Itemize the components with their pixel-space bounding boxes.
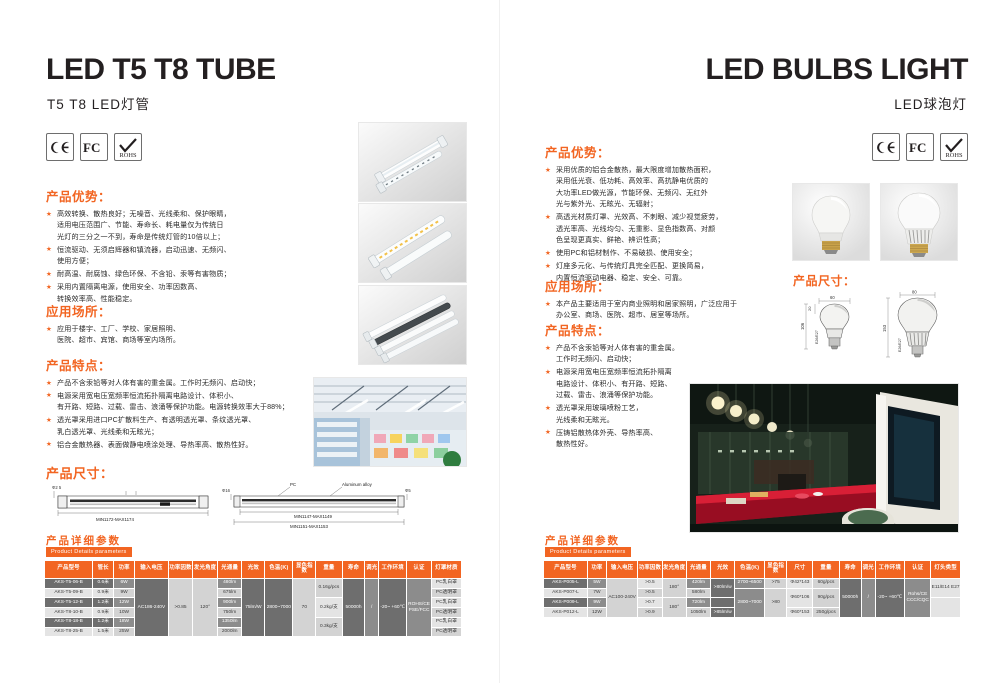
spec-col-header: 灯头类型	[931, 561, 961, 579]
bullet-line: 工作时无频闪、启动快；	[556, 354, 755, 365]
bullet-line: 高透光材质灯罩、光效高、不刺眼、减少视觉疲劳，	[556, 212, 790, 223]
spec-cell: 0.16g/pcs	[316, 578, 342, 598]
bullet-line: 医院、超市、宾馆、商场等室内场所。	[57, 335, 271, 346]
spec-cell: AKS-T5-06-B	[45, 578, 93, 588]
right-application-list: ★本产品主要适用于室内商业照明和居家照明，广泛应用于办公室、商场、医院、超市、居…	[545, 299, 795, 322]
spec-col-header: 产品型号	[45, 561, 93, 579]
ce-mark-icon	[46, 133, 74, 161]
bulb-small-dome: 20	[807, 306, 812, 311]
right-certification-badges: FC ROHS	[872, 133, 968, 161]
spec-cell: 1.2米	[93, 598, 114, 608]
bullet-item: ★产品不含汞铅等对人体有害的重金属。工作时无频闪、启动快；	[46, 378, 308, 389]
spec-cell: 2700~6500	[735, 578, 765, 588]
spec-col-header: 产品型号	[544, 561, 588, 579]
bullet-line: 应用于楼宇、工厂、学校、家居照明、	[57, 324, 271, 335]
spec-col-header: 光效	[711, 561, 735, 579]
bulb-large-diameter: 80	[912, 290, 917, 295]
spec-cell: Φ42*143	[787, 578, 813, 588]
right-advantages-list: ★采用优质的铝合金散热，最大限度增加散热面积，采用低光衰、低功耗、高效率、高抗静…	[545, 165, 790, 284]
spec-cell: >0.85	[168, 578, 193, 637]
spec-cell: 75lm/W	[242, 578, 265, 637]
bulb-dimension-drawings: 60 20 106	[793, 288, 993, 360]
spec-cell: 580lm	[686, 588, 710, 598]
table-row: AKS-P005-L5WAC100-240V>0.5180°420lm>80lm…	[544, 578, 961, 588]
bulb-small-diameter: 60	[830, 295, 835, 300]
spec-cell: 25W	[114, 627, 135, 637]
spec-cell: 0.2kg/支	[316, 598, 342, 618]
star-bullet-icon: ★	[545, 344, 551, 354]
fcc-mark-icon: FC	[906, 133, 934, 161]
bulb-photo-1	[792, 183, 870, 261]
spec-cell: 0.9米	[93, 608, 114, 618]
spec-cell: 0.6米	[93, 578, 114, 588]
spec-cell: 120°	[193, 578, 218, 637]
left-application-list: ★应用于楼宇、工厂、学校、家居照明、医院、超市、宾馆、商场等室内场所。	[46, 324, 271, 347]
left-certification-badges: FC ROHS	[46, 133, 142, 161]
left-features-list: ★产品不含汞铅等对人体有害的重金属。工作时无频闪、启动快；★电源采用宽电压宽频率…	[46, 378, 308, 451]
spec-cell: 50000h	[839, 578, 861, 617]
left-application-heading: 应用场所：	[46, 301, 271, 320]
spec-cell: 250g/pcs	[813, 608, 839, 618]
spec-cell: 10W	[114, 608, 135, 618]
right-page: LED BULBS LIGHT LED球泡灯 FC ROHS	[500, 0, 1000, 683]
right-features-heading: 产品特点：	[545, 320, 755, 339]
bullet-line: 高效转换、散热良好；无噪音、光线柔和、保护眼睛，	[57, 209, 271, 220]
bullet-line: 恒流驱动、无须启辉器和镇流器，启动迅速、无频闪、	[57, 245, 271, 256]
right-page-title-en: LED BULBS LIGHT	[706, 55, 969, 85]
spec-cell: Φ60*106	[787, 588, 813, 608]
svg-text:Φ2 5: Φ2 5	[52, 485, 62, 490]
spec-cell: -20~ +60℃	[875, 578, 905, 617]
bullet-line: 采用低光衰、低功耗、高效率、高抗静电优质的	[556, 176, 790, 187]
left-features-heading: 产品特点：	[46, 355, 308, 374]
spec-cell: 1.5米	[93, 627, 114, 637]
left-advantages-section: 产品优势： ★高效转换、散热良好；无噪音、光线柔和、保护眼睛，适用电压范围广、节…	[46, 186, 271, 315]
spec-cell: AKS-T5-12-B	[45, 598, 93, 608]
bullet-item: ★产品不含汞铅等对人体有害的重金属。工作时无频闪、启动快；	[545, 343, 755, 366]
star-bullet-icon: ★	[46, 210, 52, 220]
spec-col-header: 功率因数	[638, 561, 662, 579]
bullet-line: 电源采用宽电压宽频率恒流拓扑隔离	[556, 367, 755, 378]
spec-cell: AKS-T8-18-B	[45, 617, 93, 627]
bullet-line: 耐高温、耐腐蚀、绿色环保、不含铅、汞等有害物质；	[57, 269, 271, 280]
t8-dimension-drawing: Φ16 PC Aluminum alloy Φ5 MIN1147-MAX1149	[218, 478, 418, 530]
bullet-line: 使用PC和铝材制作、不易破损、使用安全；	[556, 248, 790, 259]
star-bullet-icon: ★	[545, 300, 551, 310]
spec-cell: PC乳白罩	[431, 598, 461, 608]
fcc-mark-icon: FC	[80, 133, 108, 161]
spec-cell: >80	[764, 588, 786, 617]
right-application-heading: 应用场所：	[545, 276, 795, 295]
spec-cell: >80lm/w	[711, 578, 735, 598]
bullet-line: 产品不含汞铅等对人体有害的重金属。	[556, 343, 755, 354]
right-advantages-heading: 产品优势：	[545, 142, 790, 161]
right-spec-table: 产品型号功率输入电压功率因数发光角度光通量光效色温(K)显色指数尺寸重量寿命调光…	[543, 560, 961, 618]
right-dimensions-heading: 产品尺寸：	[793, 272, 856, 289]
spec-cell: >0.5	[638, 578, 662, 588]
bullet-line: 采用内置隔离电源，使用安全、功率因数高、	[57, 282, 271, 293]
star-bullet-icon: ★	[545, 368, 551, 378]
svg-text:ROHS: ROHS	[946, 152, 963, 158]
table-row: AKS-T5-06-B0.6米6WAC186-240V>0.85120°480l…	[45, 578, 462, 588]
spec-cell: 420lm	[686, 578, 710, 588]
spec-col-header: 尺寸	[787, 561, 813, 579]
star-bullet-icon: ★	[545, 213, 551, 223]
spec-cell: 675lm	[217, 588, 242, 598]
spec-col-header: 重量	[813, 561, 839, 579]
right-params-title: 产品详细参数	[545, 533, 620, 548]
star-bullet-icon: ★	[46, 270, 52, 280]
spec-col-header: 工作环境	[379, 561, 407, 579]
t5-length-label: MIN1172-MAX1174	[96, 517, 134, 522]
bulb-large-base: E26/E27	[898, 338, 902, 352]
spec-col-header: 调光	[365, 561, 379, 579]
bullet-line: 电源采用宽电压宽频率恒流拓扑隔离电路设计、体积小、	[57, 391, 308, 402]
spec-cell: AKS-T5-09-B	[45, 588, 93, 598]
tube-photo-2	[358, 203, 467, 283]
spec-cell: 2800~7000	[265, 578, 293, 637]
spec-cell: Rohs/CE CCC/CQC	[905, 578, 931, 617]
spec-cell: AKS-T8-25-B	[45, 627, 93, 637]
tube-photo-3	[358, 285, 467, 365]
spec-col-header: 寿命	[342, 561, 365, 579]
spec-cell: 180°	[662, 598, 686, 618]
spec-cell: -20~ +60℃	[379, 578, 407, 637]
spec-col-header: 灯罩材质	[431, 561, 461, 579]
spec-cell: /	[862, 578, 876, 617]
svg-text:Φ16: Φ16	[222, 488, 231, 493]
spec-col-header: 输入电压	[606, 561, 637, 579]
spec-cell: 7W	[587, 588, 606, 598]
bullet-item: ★高效转换、散热良好；无噪音、光线柔和、保护眼睛，适用电压范围广、节能、寿命长、…	[46, 209, 271, 243]
bullet-item: ★高透光材质灯罩、光效高、不刺眼、减少视觉疲劳，透光率高、光线均匀、无重影、显色…	[545, 212, 790, 246]
bullet-item: ★恒流驱动、无须启辉器和镇流器，启动迅速、无频闪、使用方便；	[46, 245, 271, 268]
star-bullet-icon: ★	[545, 249, 551, 259]
bullet-line: 适用电压范围广、节能、寿命长、耗电量仅为传统日	[57, 220, 271, 231]
spec-col-header: 光效	[242, 561, 265, 579]
spec-cell: 6W	[114, 578, 135, 588]
star-bullet-icon: ★	[46, 245, 52, 255]
star-bullet-icon: ★	[46, 379, 52, 389]
spec-cell: AKS-P009-L	[544, 598, 588, 608]
star-bullet-icon: ★	[545, 262, 551, 272]
spec-cell: 70	[293, 578, 316, 637]
spec-cell: 2800~7000	[735, 588, 765, 617]
bullet-item: ★本产品主要适用于室内商业照明和居家照明，广泛应用于办公室、商场、医院、超市、居…	[545, 299, 795, 322]
star-bullet-icon: ★	[545, 428, 551, 438]
right-advantages-section: 产品优势： ★采用优质的铝合金散热，最大限度增加散热面积，采用低光衰、低功耗、高…	[545, 142, 790, 294]
spec-cell: 1350lm	[217, 617, 242, 627]
left-params-title: 产品详细参数	[46, 533, 121, 548]
right-spec-header-row: 产品型号功率输入电压功率因数发光角度光通量光效色温(K)显色指数尺寸重量寿命调光…	[544, 561, 961, 579]
star-bullet-icon: ★	[46, 325, 52, 335]
spec-col-header: 光通量	[686, 561, 710, 579]
spec-cell: PC透明罩	[431, 588, 461, 598]
restaurant-scene-photo	[689, 383, 959, 533]
spec-col-header: 发光角度	[662, 561, 686, 579]
left-page: LED T5 T8 TUBE T5 T8 LED灯管 FC ROHS	[0, 0, 500, 683]
spec-col-header: 色温(K)	[265, 561, 293, 579]
spec-cell: PC透明罩	[431, 627, 461, 637]
spec-col-header: 色温(K)	[735, 561, 765, 579]
star-bullet-icon: ★	[46, 391, 52, 401]
left-params-subtitle: Product Details parameters	[46, 547, 132, 557]
spec-col-header: 调光	[862, 561, 876, 579]
bullet-item: ★采用优质的铝合金散热，最大限度增加散热面积，采用低光衰、低功耗、高效率、高抗静…	[545, 165, 790, 211]
spec-cell: 2000lm	[217, 627, 242, 637]
spec-cell: 180°	[662, 578, 686, 598]
spec-col-header: 工作环境	[875, 561, 905, 579]
tube-photo-1	[358, 122, 467, 202]
spec-col-header: 功率	[114, 561, 135, 579]
spec-col-header: 认证	[905, 561, 931, 579]
star-bullet-icon: ★	[46, 440, 52, 450]
spec-cell: 0.9米	[93, 588, 114, 598]
spec-col-header: 输入电压	[135, 561, 169, 579]
spec-cell: E11/E14 E27	[931, 578, 961, 598]
bulb-small-height: 106	[800, 322, 805, 330]
star-bullet-icon: ★	[46, 283, 52, 293]
spec-cell: AC100-240V	[606, 578, 637, 617]
spec-cell: AKS-P012-L	[544, 608, 588, 618]
t8-end-label: Φ5	[405, 488, 411, 493]
spec-col-header: 光通量	[217, 561, 242, 579]
t8-outer-length-label: MIN1151-MAX1153	[290, 524, 328, 529]
left-application-section: 应用场所： ★应用于楼宇、工厂、学校、家居照明、医院、超市、宾馆、商场等室内场所…	[46, 301, 271, 357]
bullet-item: ★耐高温、耐腐蚀、绿色环保、不含铅、汞等有害物质；	[46, 269, 271, 280]
spec-cell: >75	[764, 578, 786, 588]
spec-col-header: 显色指数	[764, 561, 786, 579]
spec-col-header: 寿命	[839, 561, 861, 579]
left-advantages-heading: 产品优势：	[46, 186, 271, 205]
star-bullet-icon: ★	[545, 404, 551, 414]
spec-cell: 12W	[114, 598, 135, 608]
svg-text:FC: FC	[909, 141, 926, 154]
spec-cell: 90g/pcs	[813, 588, 839, 608]
spec-cell: 1.2米	[93, 617, 114, 627]
spec-cell: 5W	[587, 578, 606, 588]
left-advantages-list: ★高效转换、散热良好；无噪音、光线柔和、保护眼睛，适用电压范围广、节能、寿命长、…	[46, 209, 271, 305]
bullet-line: 色呈现更真实、鲜艳、辨识性高；	[556, 235, 790, 246]
supermarket-scene-photo	[313, 377, 467, 467]
spec-cell: AC186-240V	[135, 578, 169, 637]
spec-col-header: 功率	[587, 561, 606, 579]
bullet-line: 灯座多元化、与传统灯具完全匹配、更换简易，	[556, 261, 790, 272]
bullet-line: 使用方便；	[57, 256, 271, 267]
spec-cell: 900lm	[217, 598, 242, 608]
spec-cell: 480lm	[217, 578, 242, 588]
bulb-small-base: E26/E27	[815, 330, 819, 344]
bullet-item: ★应用于楼宇、工厂、学校、家居照明、医院、超市、宾馆、商场等室内场所。	[46, 324, 271, 347]
spec-col-header: 显色指数	[293, 561, 316, 579]
spec-cell: 0.3kg/支	[316, 617, 342, 637]
spec-col-header: 发光角度	[193, 561, 218, 579]
spec-col-header: 管长	[93, 561, 114, 579]
bullet-item: ★电源采用宽电压宽频率恒流拓扑隔离电路设计、体积小、有开路、短路、过载、雷击、浪…	[46, 391, 308, 414]
t8-pc-label: PC	[290, 482, 296, 487]
bullet-line: 光与紫外光、无眩光、无辐射；	[556, 199, 790, 210]
spec-cell: 750lm	[217, 608, 242, 618]
bullet-line: 光灯的三分之一不到，寿命是传统灯管的10倍以上；	[57, 232, 271, 243]
left-spec-header-row: 产品型号管长功率输入电压功率因数发光角度光通量光效色温(K)显色指数重量寿命调光…	[45, 561, 462, 579]
right-page-title-cn: LED球泡灯	[894, 93, 967, 113]
bullet-line: 乳白透光罩、光线柔和无眩光；	[57, 427, 308, 438]
spec-col-header: 功率因数	[168, 561, 193, 579]
spec-cell: 1050lm	[686, 608, 710, 618]
left-page-title-cn: T5 T8 LED灯管	[47, 93, 150, 113]
spec-cell: >0.7	[638, 598, 662, 608]
spec-cell: >0.9	[638, 608, 662, 618]
spec-cell: AKS-P005-L	[544, 578, 588, 588]
spec-cell: AKS-P007-L	[544, 588, 588, 598]
bullet-item: ★使用PC和铝材制作、不易破损、使用安全；	[545, 248, 790, 259]
star-bullet-icon: ★	[46, 416, 52, 426]
bullet-item: ★透光罩采用进口PC扩散料生产、有透明透光罩、条纹透光罩、乳白透光罩、光线柔和无…	[46, 415, 308, 438]
spec-cell: AKS-T8-10-B	[45, 608, 93, 618]
spec-cell: PC乳白罩	[431, 617, 461, 627]
rohs-mark-icon: ROHS	[940, 133, 968, 161]
spec-cell: 18W	[114, 617, 135, 627]
t8-inner-length-label: MIN1147-MAX1149	[294, 514, 332, 519]
bullet-line: 采用优质的铝合金散热，最大限度增加散热面积，	[556, 165, 790, 176]
bullet-line: 透光罩采用进口PC扩散料生产、有透明透光罩、条纹透光罩、	[57, 415, 308, 426]
star-bullet-icon: ★	[545, 166, 551, 176]
spec-cell: >0.5	[638, 588, 662, 598]
spec-cell: Φ60*153	[787, 608, 813, 618]
spec-cell: 9W	[114, 588, 135, 598]
spec-cell: 9W	[587, 598, 606, 608]
spec-cell: PC透明罩	[431, 608, 461, 618]
bullet-item: ★铝合金散热器、表面做静电喷涂处理、导热率高、散热性好。	[46, 440, 308, 451]
svg-text:ROHS: ROHS	[120, 152, 137, 158]
bullet-line: 有开路、短路、过载、雷击、浪涌等保护功能。电源转换效率大于88%；	[57, 402, 308, 413]
bullet-line: 透光率高、光线均匀、无重影、显色指数高、对颜	[556, 224, 790, 235]
spec-cell: PC乳白罩	[431, 578, 461, 588]
svg-text:FC: FC	[83, 141, 100, 154]
bullet-line: 产品不含汞铅等对人体有害的重金属。工作时无频闪、启动快；	[57, 378, 308, 389]
bullet-line: 本产品主要适用于室内商业照明和居家照明，广泛应用于	[556, 299, 795, 310]
spec-cell: 12W	[587, 608, 606, 618]
spec-cell: 50000h	[342, 578, 365, 637]
t8-alloy-label: Aluminum alloy	[342, 482, 373, 487]
spec-col-header: 认证	[407, 561, 432, 579]
t5-dimension-drawing: Φ2 5 MIN1172-MAX1174	[48, 482, 218, 528]
spec-col-header: 重量	[316, 561, 342, 579]
spec-cell	[711, 598, 735, 608]
rohs-mark-icon: ROHS	[114, 133, 142, 161]
left-dimensions-heading: 产品尺寸：	[46, 463, 114, 482]
spec-cell: 60g/pcs	[813, 578, 839, 588]
ce-mark-icon	[872, 133, 900, 161]
bulb-large-height: 153	[882, 324, 887, 332]
spec-cell: /	[365, 578, 379, 637]
left-page-title-en: LED T5 T8 TUBE	[46, 55, 276, 85]
bulb-photo-2	[880, 183, 958, 261]
spec-cell: ROHS/CE PSE/FCC	[407, 578, 432, 637]
left-spec-table: 产品型号管长功率输入电压功率因数发光角度光通量光效色温(K)显色指数重量寿命调光…	[44, 560, 462, 637]
spec-cell: >85lm/w	[711, 608, 735, 618]
catalog-spread: LED T5 T8 TUBE T5 T8 LED灯管 FC ROHS	[0, 0, 1000, 683]
bullet-line: 大功率LED做光源，节能环保、无频闪、无红外	[556, 188, 790, 199]
left-features-section: 产品特点： ★产品不含汞铅等对人体有害的重金属。工作时无频闪、启动快；★电源采用…	[46, 355, 308, 461]
bullet-line: 铝合金散热器、表面做静电喷涂处理、导热率高、散热性好。	[57, 440, 308, 451]
spec-cell: 720lm	[686, 598, 710, 608]
spec-cell	[931, 598, 961, 618]
right-params-subtitle: Product Details parameters	[545, 547, 631, 557]
